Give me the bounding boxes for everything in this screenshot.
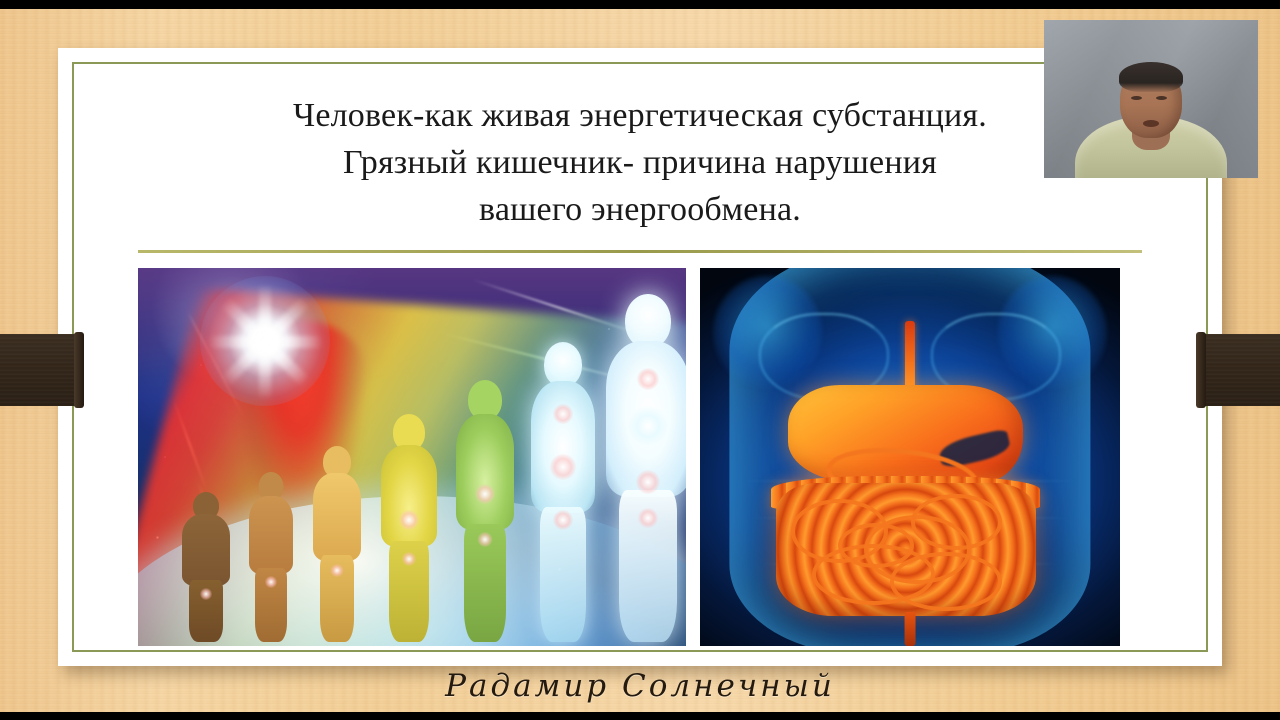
decorative-side-bar-right [1196, 334, 1280, 406]
cosmic-scene [138, 268, 686, 646]
slide-title: Человек-как живая энергетическая субстан… [98, 92, 1182, 233]
title-divider [138, 250, 1142, 253]
side-bar-cap-left [74, 332, 84, 408]
energy-body-figure [310, 446, 364, 642]
intestine-coil [890, 552, 1002, 610]
presenter-mouth [1143, 120, 1159, 127]
intestine-coil [838, 523, 914, 568]
presenter-eye-left [1131, 96, 1142, 100]
energy-body-figure [246, 472, 296, 642]
presenter-eye-right [1156, 96, 1167, 100]
presenter-webcam[interactable] [1044, 20, 1258, 178]
letterbox-bottom [0, 712, 1280, 720]
presentation-screen: Человек-как живая энергетическая субстан… [0, 0, 1280, 720]
energy-body-figure [378, 414, 440, 642]
energy-body-figure [452, 380, 518, 642]
intestine-coil [911, 494, 1002, 550]
author-signature: Радамир Солнечный [0, 668, 1280, 704]
decorative-side-bar-left [0, 334, 84, 406]
side-bar-cap-right [1196, 332, 1206, 408]
slide-image-row [138, 268, 1142, 646]
rectum [905, 612, 916, 646]
digestive-system-illustration [700, 268, 1120, 646]
presenter-hair [1119, 62, 1183, 92]
small-intestine-mass [776, 483, 1036, 615]
letterbox-top [0, 0, 1280, 9]
energy-body-figure [526, 342, 600, 642]
energy-bodies-illustration [138, 268, 686, 646]
energy-body-figure [180, 492, 232, 642]
anatomy-scene [700, 268, 1120, 646]
energy-body-figure [602, 294, 686, 642]
